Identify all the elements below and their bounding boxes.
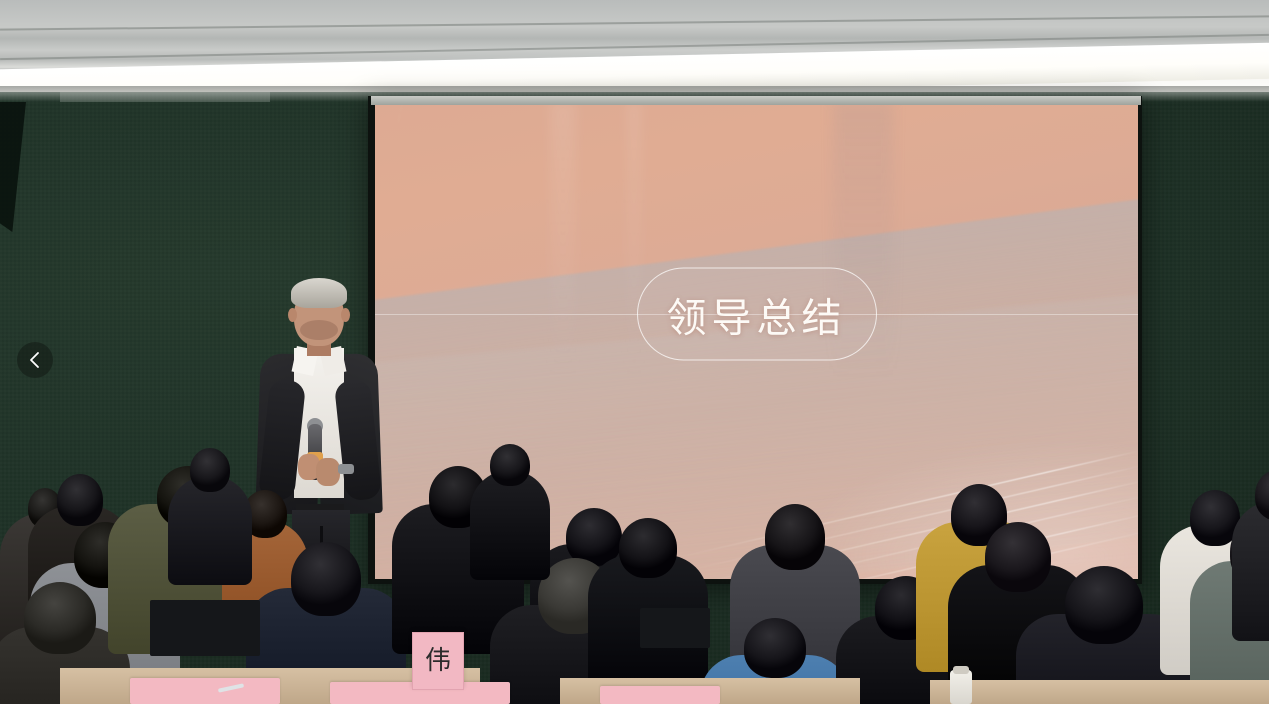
attendee-back-row-right-head — [490, 444, 530, 486]
attendee-dark-coat-center-r-head — [1065, 566, 1143, 644]
attendee-black-right-mid-head — [619, 518, 677, 578]
speaker-ear — [288, 308, 297, 322]
attendee-navy-front-left-head — [291, 542, 361, 616]
attendee-curly-front-left-head — [24, 582, 96, 654]
attendee-edge-right — [1232, 470, 1269, 660]
slide-title: 领导总结 — [667, 285, 847, 343]
audience-group — [0, 430, 1269, 704]
table-surface — [930, 680, 1269, 704]
projector-streak — [627, 102, 641, 379]
attendee-long-hair-left-head — [57, 474, 103, 526]
attendee-back-row-right — [470, 444, 550, 596]
water-bottle — [950, 670, 972, 704]
name-placard-text: 伟 — [425, 648, 451, 674]
attendee-back-row-left-head — [190, 448, 230, 492]
attendee-ponytail-right-head — [765, 504, 825, 570]
name-placard: 伟 — [412, 632, 464, 690]
speaker-ear — [341, 308, 350, 322]
previous-photo-button[interactable] — [17, 342, 53, 378]
document-paper — [130, 678, 280, 704]
chevron-left-icon — [28, 351, 42, 369]
document-paper — [600, 686, 720, 704]
attendee-back-row-right-torso — [470, 470, 550, 580]
slide-title-pill: 领导总结 — [637, 268, 877, 361]
laptop — [640, 608, 710, 648]
screen-top-bar — [371, 96, 1141, 105]
laptop — [150, 600, 260, 656]
photo-viewer: 领导总结 伟 — [0, 0, 1269, 704]
speaker-hair — [291, 278, 347, 308]
bottle-cap — [953, 666, 969, 674]
attendee-edge-right-torso — [1232, 501, 1269, 641]
wall-vent — [60, 92, 270, 102]
speaker-face-shadow — [300, 320, 338, 340]
projector-streak — [550, 102, 576, 379]
ceiling-seam — [0, 15, 1269, 30]
attendee-back-row-left — [168, 448, 252, 602]
attendee-blue-shirt-head — [744, 618, 806, 678]
